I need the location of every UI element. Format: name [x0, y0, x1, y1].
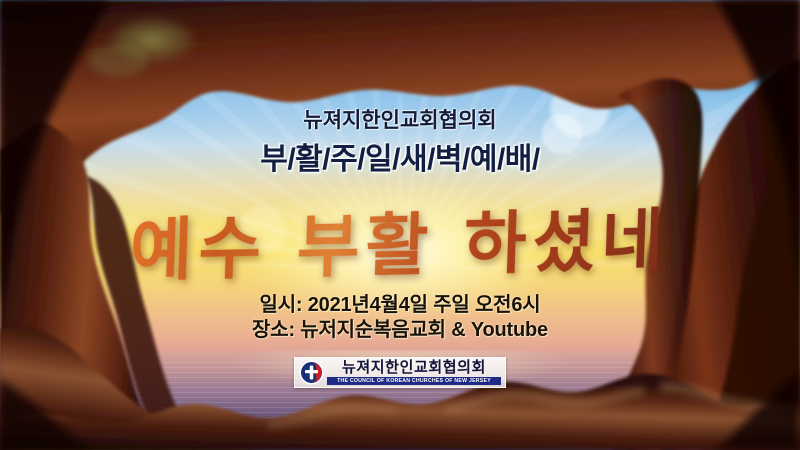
council-english-name: THE COUNCIL OF KOREAN CHURCHES OF NEW JE…	[327, 377, 501, 385]
service-title-line: 부/활/주/일/새/벽/예/배/	[0, 134, 800, 178]
event-location-line: 장소: 뉴저지순복음교회 & Youtube	[0, 313, 800, 342]
organization-line: 뉴져지한인교회협의회	[0, 104, 800, 134]
presentation-slide: 뉴져지한인교회협의회 부/활/주/일/새/벽/예/배/ 예수 부활 하셨네 일시…	[0, 0, 800, 450]
main-headline: 예수 부활 하셨네	[0, 182, 800, 296]
council-korean-name: 뉴져지한인교회협의회	[327, 360, 501, 376]
council-logo-plate: 뉴져지한인교회협의회 THE COUNCIL OF KOREAN CHURCHE…	[294, 357, 506, 388]
council-emblem-icon	[299, 360, 324, 385]
council-logo-text: 뉴져지한인교회협의회 THE COUNCIL OF KOREAN CHURCHE…	[327, 360, 501, 385]
